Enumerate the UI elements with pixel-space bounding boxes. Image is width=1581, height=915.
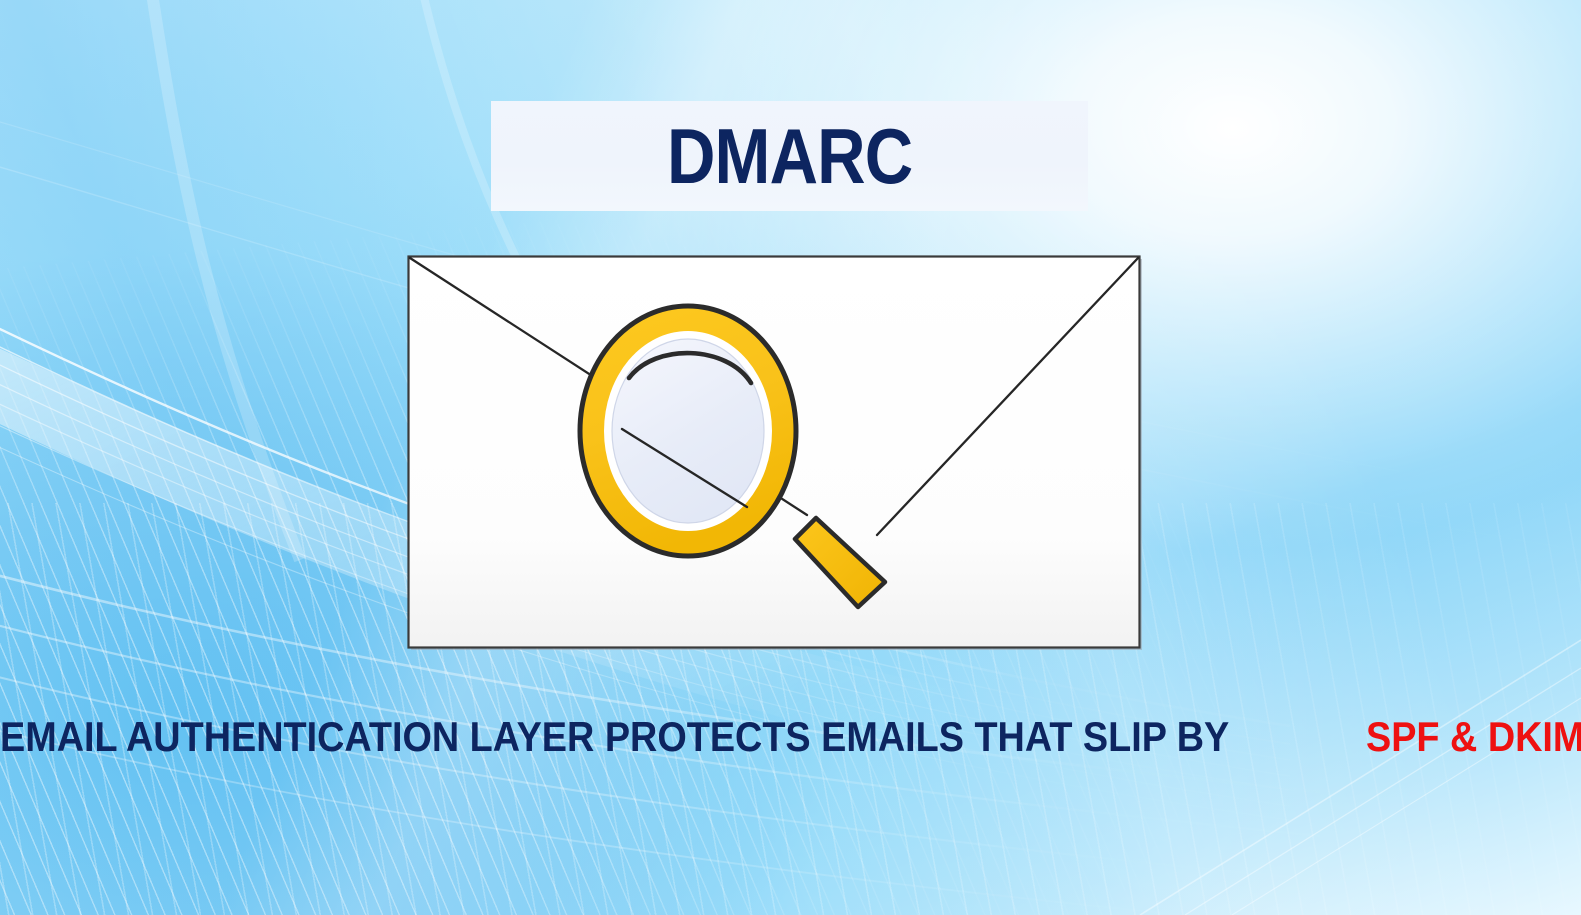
magnifier-ring (580, 306, 796, 556)
slide-canvas: DMARC (0, 0, 1581, 915)
envelope-illustration (407, 255, 1141, 649)
tagline: EMAIL AUTHENTICATION LAYER PROTECTS EMAI… (0, 714, 1581, 760)
tagline-accent-text: SPF & DKIM (1366, 714, 1581, 760)
tagline-main-text: EMAIL AUTHENTICATION LAYER PROTECTS EMAI… (0, 714, 1229, 760)
page-title: DMARC (667, 117, 912, 195)
title-plaque: DMARC (491, 101, 1088, 211)
